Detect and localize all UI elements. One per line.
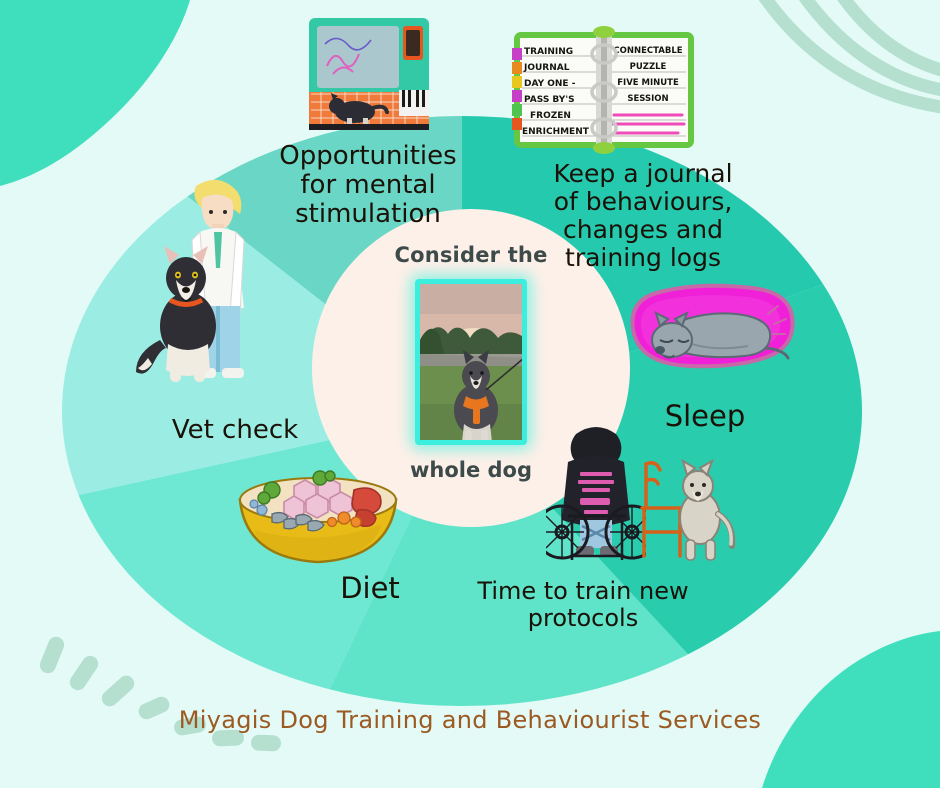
wheelchair-trainer-icon [546,420,646,572]
journal-line: DAY ONE - [524,79,576,89]
enrichment-board-icon [303,14,435,144]
journal-line: PASS BY'S [524,95,575,105]
hub-top-label: Consider the [394,243,547,267]
center-dog-photo [415,279,527,445]
dog-with-chair-icon [636,452,736,570]
journal-line: CONNECTABLE [613,46,682,56]
food-bowl-icon [228,456,408,574]
vet-with-dog-icon [128,168,288,410]
journal-notebook-icon: TRAINING JOURNAL DAY ONE - PASS BY'S FRO… [508,20,700,168]
infographic-canvas: Consider the [0,0,940,788]
journal-line: PUZZLE [630,62,667,72]
journal-line: FROZEN [530,111,571,121]
hub-bottom-label: whole dog [410,458,532,482]
journal-line: ENRICHMENT [522,127,590,137]
journal-line: FIVE MINUTE [617,78,679,88]
dog-photo-illustration [420,284,527,445]
journal-line: JOURNAL [523,63,570,73]
journal-line: SESSION [627,94,668,104]
sleeping-dog-bed-icon [620,272,800,392]
footer-brand-text: Miyagis Dog Training and Behaviourist Se… [0,706,940,734]
journal-line: TRAINING [524,47,573,57]
